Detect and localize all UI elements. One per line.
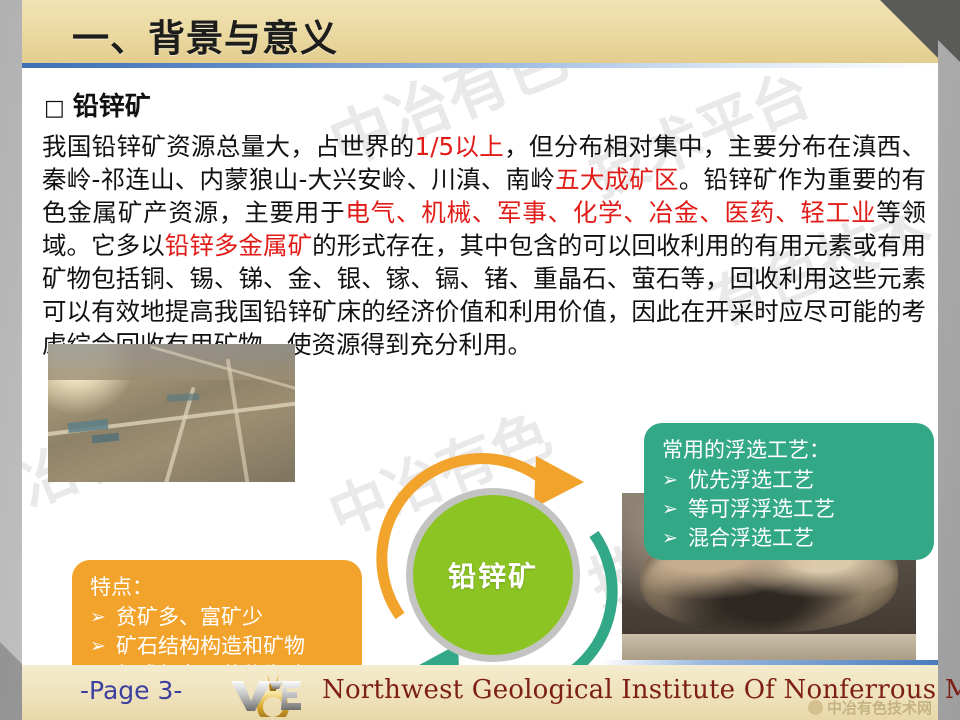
paragraph-highlight: 1/5以上 (415, 132, 504, 161)
process-heading: 常用的浮选工艺： (644, 423, 934, 466)
arrow-bullet-icon: ➢ (662, 466, 678, 495)
list-item: ➢优先浮选工艺 (662, 466, 922, 495)
arrow-bullet-icon: ➢ (662, 495, 678, 524)
presentation-slide: 一、背景与意义 中冶有色 技术平台 冶有色技 中冶有色 技术平台 有色技术 □铅… (0, 0, 960, 720)
photo-building (92, 432, 120, 443)
slide-content-area: 中冶有色 技术平台 冶有色技 中冶有色 技术平台 有色技术 □铅锌矿 我国铅锌矿… (22, 68, 938, 665)
photo-road (161, 387, 196, 482)
features-callout-box: 特点： ➢贫矿多、富矿少➢矿石结构构造和矿物组成复杂，共伴生矿床多，单一矿床少 (72, 560, 362, 665)
photo-building (166, 393, 198, 402)
center-circle: 铅锌矿 (406, 488, 580, 662)
page-number: -Page 3- (80, 676, 182, 705)
photo-ridge (48, 344, 295, 380)
paragraph-highlight: 电气、机械、军事、化学、冶金、医药、轻工业 (345, 198, 876, 227)
institute-logo-icon (227, 669, 317, 717)
paragraph-highlight: 铅锌多金属矿 (165, 231, 312, 260)
list-item-line: 等可浮浮选工艺 (688, 495, 922, 524)
process-callout-box: 常用的浮选工艺： ➢优先浮选工艺➢等可浮浮选工艺➢混合浮选工艺 (644, 423, 934, 560)
paragraph-highlight: 五大成矿区 (555, 165, 679, 194)
list-item-line: 贫矿多、富矿少 (116, 603, 350, 632)
list-item: ➢等可浮浮选工艺 (662, 495, 922, 524)
page-title: 一、背景与意义 (72, 8, 338, 62)
square-bullet-icon: □ (44, 96, 65, 121)
arrow-bullet-icon: ➢ (662, 524, 678, 553)
photo-shelf (622, 634, 916, 661)
features-list: ➢贫矿多、富矿少➢矿石结构构造和矿物组成复杂，共伴生矿床多，单一矿床少 (72, 603, 362, 665)
circle-label: 铅锌矿 (406, 488, 580, 662)
mine-site-photo (48, 344, 295, 482)
list-item-line: 优先浮选工艺 (688, 466, 922, 495)
photo-road (48, 398, 295, 437)
section-heading: □铅锌矿 (44, 86, 151, 123)
body-paragraph: 我国铅锌矿资源总量大，占世界的1/5以上，但分布相对集中，主要分布在滇西、秦岭-… (42, 130, 926, 361)
slide-footer: -Page 3- Northwest Geological Institute … (22, 665, 938, 720)
list-item: ➢贫矿多、富矿少 (90, 603, 350, 632)
list-item: ➢混合浮选工艺 (662, 524, 922, 553)
paragraph-text: 我国铅锌矿资源总量大，占世界的 (42, 132, 415, 161)
list-item-line: 矿石结构构造和矿物 (116, 632, 350, 661)
watermark-logo-icon (808, 700, 823, 715)
section-heading-label: 铅锌矿 (73, 92, 151, 122)
list-item: ➢矿石结构构造和矿物组成复杂，共伴生矿床多，单一矿床少 (90, 632, 350, 665)
title-banner: 一、背景与意义 (22, 0, 938, 63)
process-list: ➢优先浮选工艺➢等可浮浮选工艺➢混合浮选工艺 (644, 466, 934, 553)
watermark-label: 中冶有色技术网 (827, 697, 932, 718)
site-watermark: 中冶有色技术网 (808, 697, 932, 718)
arrow-bullet-icon: ➢ (90, 632, 106, 661)
arrow-bullet-icon: ➢ (90, 603, 106, 632)
features-heading: 特点： (72, 560, 362, 603)
list-item-line: 混合浮选工艺 (688, 524, 922, 553)
